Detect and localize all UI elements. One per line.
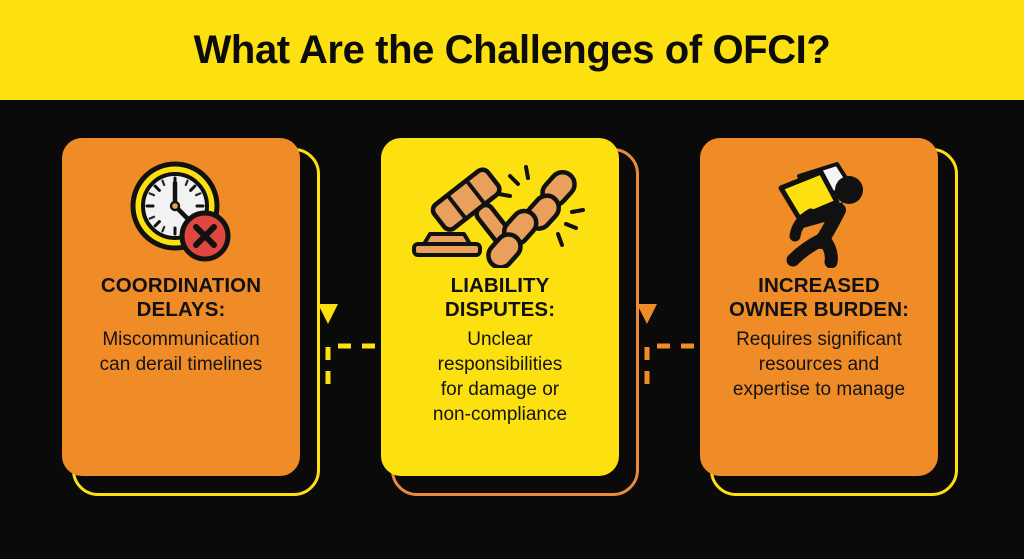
card-coordination-delays[interactable]: COORDINATION DELAYS: Miscommunication ca… (62, 138, 324, 500)
person-carrying-box-icon (712, 152, 926, 272)
card-liability-disputes[interactable]: LIABILITY DISPUTES: Unclear responsibili… (381, 138, 643, 500)
clock-error-icon (74, 152, 288, 272)
sound-block (414, 234, 480, 255)
dashed-elbow-path (328, 346, 384, 384)
card-3-title: INCREASED OWNER BURDEN: (729, 274, 909, 322)
card-3-panel: INCREASED OWNER BURDEN: Requires signifi… (700, 138, 938, 476)
card-1-panel: COORDINATION DELAYS: Miscommunication ca… (62, 138, 300, 476)
cards-stage: COORDINATION DELAYS: Miscommunication ca… (0, 100, 1024, 559)
dashed-elbow-path (647, 346, 703, 384)
card-1-title: COORDINATION DELAYS: (101, 274, 261, 322)
card-2-body: Unclear responsibilities for damage or n… (433, 327, 567, 427)
header-band: What Are the Challenges of OFCI? (0, 0, 1024, 100)
card-2-panel: LIABILITY DISPUTES: Unclear responsibili… (381, 138, 619, 476)
card-increased-owner-burden[interactable]: INCREASED OWNER BURDEN: Requires signifi… (700, 138, 962, 500)
gavel-broken-chain-icon (393, 152, 607, 272)
page-title: What Are the Challenges of OFCI? (194, 28, 831, 73)
card-1-body: Miscommunication can derail timelines (100, 327, 263, 377)
card-3-body: Requires significant resources and exper… (733, 327, 905, 402)
card-2-title: LIABILITY DISPUTES: (445, 274, 555, 322)
infographic-root: What Are the Challenges of OFCI? (0, 0, 1024, 559)
